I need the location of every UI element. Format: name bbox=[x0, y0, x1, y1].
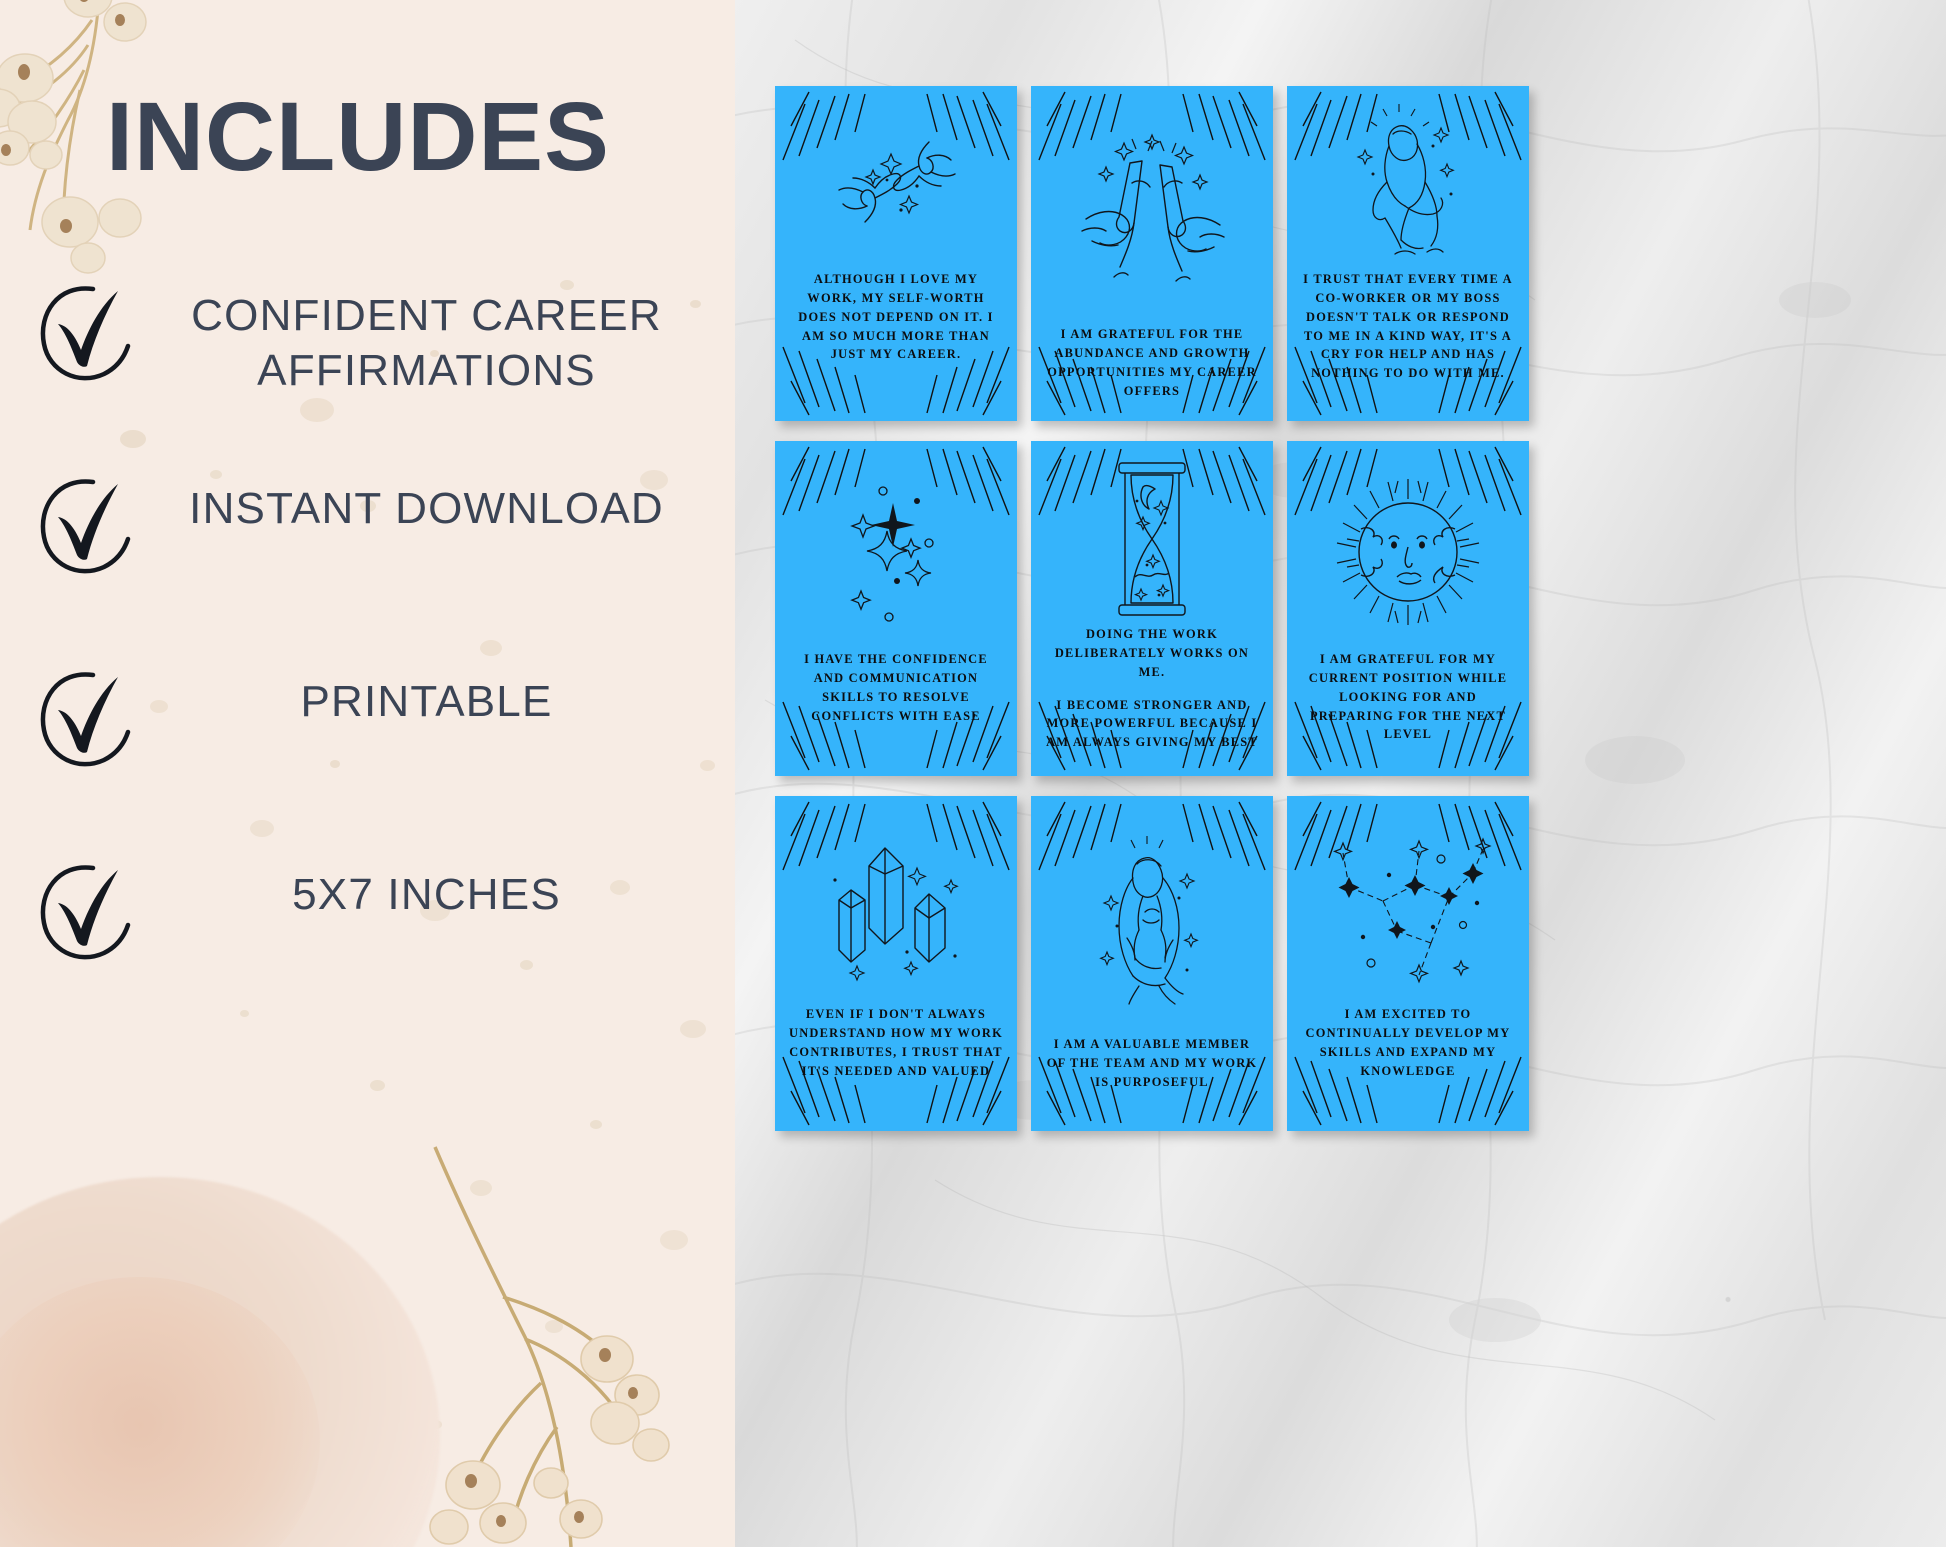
affirmation-text: I AM EXCITED TO CONTINUALLY DEVELOP MY S… bbox=[1287, 1005, 1529, 1080]
affirmation-card[interactable]: DOING THE WORK DELIBERATELY WORKS ON ME.… bbox=[1031, 441, 1273, 776]
affirmation-line: I AM EXCITED TO CONTINUALLY DEVELOP MY S… bbox=[1301, 1005, 1515, 1080]
includes-checklist: CONFIDENT CAREER AFFIRMATIONS INSTANT DO… bbox=[30, 270, 730, 1042]
list-item-label: CONFIDENT CAREER AFFIRMATIONS bbox=[145, 270, 730, 398]
affirmation-line: I AM GRATEFUL FOR MY CURRENT POSITION WH… bbox=[1301, 650, 1515, 744]
affirmation-line: DOING THE WORK DELIBERATELY WORKS ON ME. bbox=[1045, 625, 1259, 682]
affirmation-text: I AM GRATEFUL FOR THE ABUNDANCE AND GROW… bbox=[1031, 325, 1273, 400]
check-circle-icon bbox=[30, 662, 145, 777]
affirmation-card[interactable]: I AM GRATEFUL FOR THE ABUNDANCE AND GROW… bbox=[1031, 86, 1273, 421]
affirmation-line: I AM A VALUABLE MEMBER OF THE TEAM AND M… bbox=[1045, 1035, 1259, 1092]
affirmation-card[interactable]: ALTHOUGH I LOVE MY WORK, MY SELF-WORTH D… bbox=[775, 86, 1017, 421]
list-item: CONFIDENT CAREER AFFIRMATIONS bbox=[30, 270, 730, 463]
woman-with-long-hair-icon bbox=[1031, 814, 1273, 1029]
affirmation-line: EVEN IF I DON'T ALWAYS UNDERSTAND HOW MY… bbox=[789, 1005, 1003, 1080]
affirmation-line: I TRUST THAT EVERY TIME A CO-WORKER OR M… bbox=[1301, 270, 1515, 383]
affirmation-cards-grid: ALTHOUGH I LOVE MY WORK, MY SELF-WORTH D… bbox=[775, 86, 1905, 1131]
seated-woman-celestial-icon bbox=[1287, 104, 1529, 264]
affirmation-card[interactable]: I AM GRATEFUL FOR MY CURRENT POSITION WH… bbox=[1287, 441, 1529, 776]
affirmation-line: I HAVE THE CONFIDENCE AND COMMUNICATION … bbox=[789, 650, 1003, 725]
affirmation-card[interactable]: I TRUST THAT EVERY TIME A CO-WORKER OR M… bbox=[1287, 86, 1529, 421]
affirmation-card[interactable]: I HAVE THE CONFIDENCE AND COMMUNICATION … bbox=[775, 441, 1017, 776]
affirmation-text: I TRUST THAT EVERY TIME A CO-WORKER OR M… bbox=[1287, 270, 1529, 383]
affirmation-line: I BECOME STRONGER AND MORE POWERFUL BECA… bbox=[1045, 696, 1259, 753]
list-item-label: INSTANT DOWNLOAD bbox=[145, 463, 730, 536]
includes-panel: INCLUDES CONFIDENT CAREER AFFIRMATIONS bbox=[0, 0, 735, 1547]
affirmation-line: I AM GRATEFUL FOR THE ABUNDANCE AND GROW… bbox=[1045, 325, 1259, 400]
list-item: PRINTABLE bbox=[30, 656, 730, 849]
check-circle-icon bbox=[30, 276, 145, 391]
check-circle-icon bbox=[30, 469, 145, 584]
sun-with-face-icon bbox=[1287, 459, 1529, 644]
champagne-glasses-cheers-icon bbox=[1031, 104, 1273, 319]
list-item: INSTANT DOWNLOAD bbox=[30, 463, 730, 656]
list-item-label: 5X7 INCHES bbox=[145, 849, 730, 922]
affirmation-text: I HAVE THE CONFIDENCE AND COMMUNICATION … bbox=[775, 650, 1017, 725]
hourglass-moon-stars-icon bbox=[1031, 459, 1273, 619]
crystals-gems-icon bbox=[775, 814, 1017, 999]
affirmation-text: DOING THE WORK DELIBERATELY WORKS ON ME.… bbox=[1031, 625, 1273, 752]
sparkles-stars-icon bbox=[775, 459, 1017, 644]
list-item: 5X7 INCHES bbox=[30, 849, 730, 1042]
affirmation-line: ALTHOUGH I LOVE MY WORK, MY SELF-WORTH D… bbox=[789, 270, 1003, 364]
constellation-stars-icon bbox=[1287, 814, 1529, 999]
page-title: INCLUDES bbox=[106, 88, 610, 185]
affirmation-card[interactable]: I AM EXCITED TO CONTINUALLY DEVELOP MY S… bbox=[1287, 796, 1529, 1131]
listing-mockup-page: INCLUDES CONFIDENT CAREER AFFIRMATIONS bbox=[0, 0, 1946, 1547]
list-item-label: PRINTABLE bbox=[145, 656, 730, 729]
affirmation-card[interactable]: EVEN IF I DON'T ALWAYS UNDERSTAND HOW MY… bbox=[775, 796, 1017, 1131]
affirmation-text: I AM GRATEFUL FOR MY CURRENT POSITION WH… bbox=[1287, 650, 1529, 744]
affirmation-text: I AM A VALUABLE MEMBER OF THE TEAM AND M… bbox=[1031, 1035, 1273, 1092]
cards-preview-panel: ALTHOUGH I LOVE MY WORK, MY SELF-WORTH D… bbox=[735, 0, 1946, 1547]
affirmation-text: ALTHOUGH I LOVE MY WORK, MY SELF-WORTH D… bbox=[775, 270, 1017, 364]
check-circle-icon bbox=[30, 855, 145, 970]
affirmation-text: EVEN IF I DON'T ALWAYS UNDERSTAND HOW MY… bbox=[775, 1005, 1017, 1080]
affirmation-card[interactable]: I AM A VALUABLE MEMBER OF THE TEAM AND M… bbox=[1031, 796, 1273, 1131]
two-hands-reaching-sparkles-icon bbox=[775, 104, 1017, 264]
